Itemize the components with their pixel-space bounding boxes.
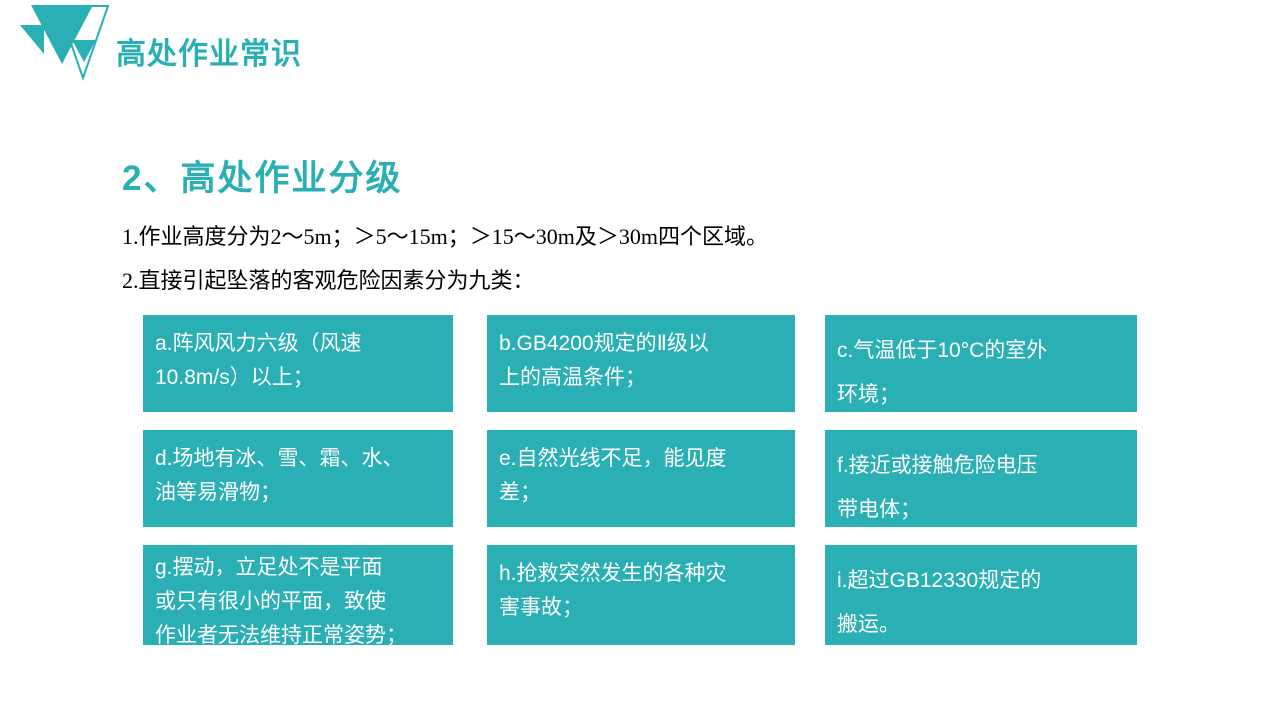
hazard-box-h-line-1: h.抢救突然发生的各种灾 [499, 557, 795, 591]
hazard-box-h-line-2: 害事故； [499, 591, 795, 625]
intro-line-1: 1.作业高度分为2～5m；＞5～15m；＞15～30m及＞30m四个区域。 [122, 219, 768, 251]
page-title: 高处作业常识 [116, 29, 302, 73]
hazard-box-e: e.自然光线不足，能见度 差； [487, 430, 795, 527]
hazard-box-e-line-1: e.自然光线不足，能见度 [499, 442, 795, 476]
w-triangle-logo-icon [14, 2, 112, 84]
hazard-box-b-line-1: b.GB4200规定的Ⅱ级以 [499, 327, 795, 361]
hazard-box-a: a.阵风风力六级（风速 10.8m/s）以上； [143, 315, 453, 412]
hazard-box-c: c.气温低于10°C的室外 环境； [825, 315, 1137, 412]
hazard-box-e-line-2: 差； [499, 476, 795, 510]
hazard-box-a-line-2: 10.8m/s）以上； [155, 361, 453, 395]
hazard-box-f: f.接近或接触危险电压 带电体； [825, 430, 1137, 527]
hazard-box-c-line-2: 环境； [837, 373, 1137, 417]
hazard-box-a-line-1: a.阵风风力六级（风速 [155, 327, 453, 361]
hazard-box-f-line-2: 带电体； [837, 488, 1137, 532]
hazard-box-i-line-1: i.超过GB12330规定的 [837, 559, 1137, 603]
hazard-box-b-line-2: 上的高温条件； [499, 361, 795, 395]
hazard-box-g-line-3: 作业者无法维持正常姿势； [155, 619, 453, 653]
hazard-box-d-line-1: d.场地有冰、雪、霜、水、 [155, 442, 453, 476]
hazard-box-d: d.场地有冰、雪、霜、水、 油等易滑物； [143, 430, 453, 527]
hazard-box-g: g.摆动，立足处不是平面 或只有很小的平面，致使 作业者无法维持正常姿势； [143, 545, 453, 645]
section-heading: 2、高处作业分级 [122, 150, 402, 201]
hazard-box-f-line-1: f.接近或接触危险电压 [837, 444, 1137, 488]
hazard-box-g-line-2: 或只有很小的平面，致使 [155, 585, 453, 619]
slide-header: 高处作业常识 [0, 0, 1280, 100]
intro-line-2: 2.直接引起坠落的客观危险因素分为九类： [122, 263, 535, 295]
hazard-box-g-line-1: g.摆动，立足处不是平面 [155, 551, 453, 585]
hazard-box-h: h.抢救突然发生的各种灾 害事故； [487, 545, 795, 645]
hazard-factor-grid: a.阵风风力六级（风速 10.8m/s）以上； b.GB4200规定的Ⅱ级以 上… [143, 315, 1137, 645]
hazard-box-b: b.GB4200规定的Ⅱ级以 上的高温条件； [487, 315, 795, 412]
hazard-box-d-line-2: 油等易滑物； [155, 476, 453, 510]
hazard-box-i-line-2: 搬运。 [837, 603, 1137, 647]
hazard-box-i: i.超过GB12330规定的 搬运。 [825, 545, 1137, 645]
hazard-box-c-line-1: c.气温低于10°C的室外 [837, 329, 1137, 373]
